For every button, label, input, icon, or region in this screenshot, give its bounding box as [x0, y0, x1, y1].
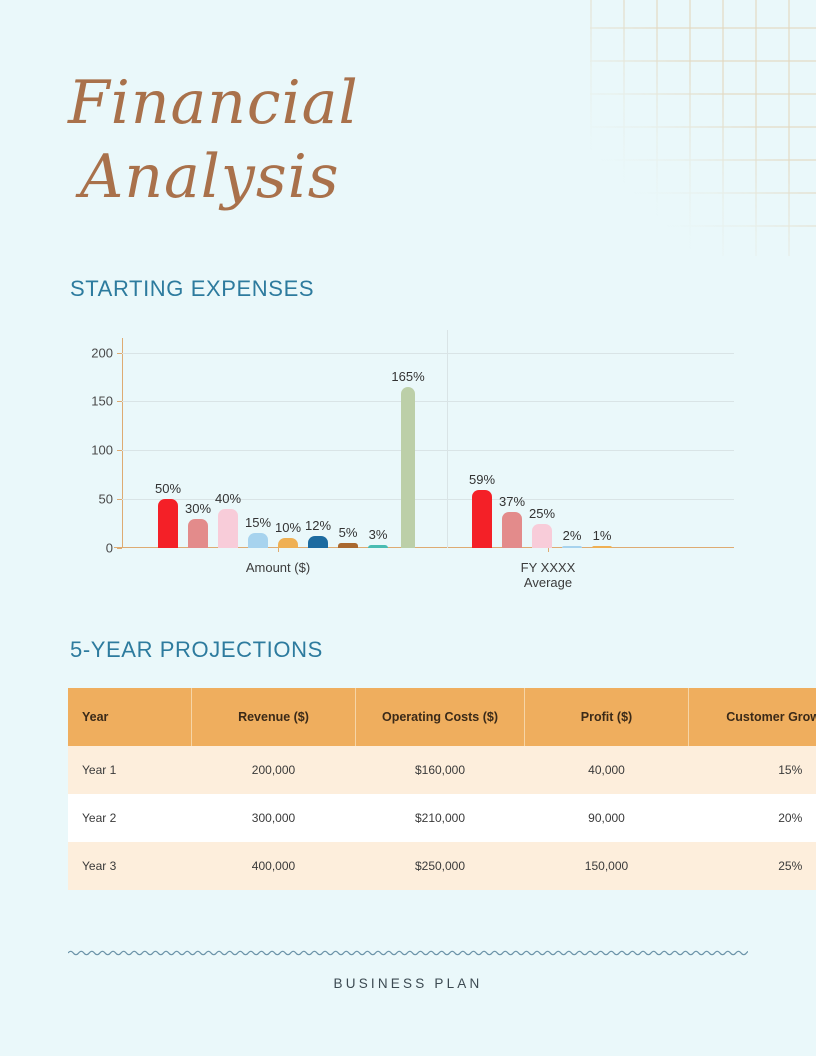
table-cell: 20%: [689, 794, 816, 842]
chart-x-tick-mark: [278, 548, 279, 552]
table-cell: $160,000: [356, 746, 525, 794]
table-cell: 90,000: [525, 794, 689, 842]
page-title-line-2: Analysis: [68, 140, 588, 214]
decorative-grid-pattern: [590, 0, 816, 256]
table-cell: 25%: [689, 842, 816, 890]
chart-bar-value-label: 37%: [499, 494, 525, 509]
chart-bar: [401, 387, 415, 548]
chart-bar: [502, 512, 522, 548]
chart-bar-value-label: 59%: [469, 472, 495, 487]
table-column-header: Year: [68, 688, 192, 746]
chart-bar: [592, 546, 612, 549]
section-heading-5-year-projections: 5-YEAR PROJECTIONS: [70, 637, 323, 663]
chart-bar-value-label: 1%: [593, 528, 612, 543]
table-cell: Year 3: [68, 842, 192, 890]
table-row: Year 2300,000$210,00090,00020%: [68, 794, 816, 842]
chart-y-tick-label: 100: [91, 443, 113, 458]
chart-bar: [532, 524, 552, 548]
chart-bar: [562, 546, 582, 549]
table-cell: $210,000: [356, 794, 525, 842]
chart-y-tick-label: 150: [91, 394, 113, 409]
footer-label: BUSINESS PLAN: [0, 976, 816, 991]
chart-group-divider: [447, 330, 448, 548]
chart-bar: [248, 533, 268, 548]
table-cell: 200,000: [192, 746, 356, 794]
chart-bar-value-label: 3%: [369, 527, 388, 542]
chart-bar: [278, 538, 298, 548]
table-cell: 400,000: [192, 842, 356, 890]
chart-gridline: [122, 401, 734, 402]
table-cell: Year 2: [68, 794, 192, 842]
section-heading-starting-expenses: STARTING EXPENSES: [70, 276, 314, 302]
chart-bar: [308, 536, 328, 548]
chart-y-tick-label: 50: [99, 492, 113, 507]
chart-plot-area: 05010015020050%30%40%15%10%12%5%3%165%59…: [122, 338, 734, 548]
table-body: Year 1200,000$160,00040,00015%Year 2300,…: [68, 746, 816, 890]
starting-expenses-bar-chart: 05010015020050%30%40%15%10%12%5%3%165%59…: [70, 330, 746, 590]
chart-bar-value-label: 30%: [185, 501, 211, 516]
chart-bar: [158, 499, 178, 548]
chart-bar-value-label: 2%: [563, 528, 582, 543]
chart-bar-value-label: 40%: [215, 491, 241, 506]
table-column-header: Profit ($): [525, 688, 689, 746]
chart-bar: [338, 543, 358, 548]
chart-bar-value-label: 15%: [245, 515, 271, 530]
chart-gridline: [122, 499, 734, 500]
chart-bar: [472, 490, 492, 548]
table-cell: 40,000: [525, 746, 689, 794]
table-header-row: YearRevenue ($)Operating Costs ($)Profit…: [68, 688, 816, 746]
chart-y-tick-mark: [117, 499, 122, 500]
table-column-header: Revenue ($): [192, 688, 356, 746]
table-cell: Year 1: [68, 746, 192, 794]
chart-y-tick-label: 0: [106, 541, 113, 556]
page-title-line-1: Financial: [68, 68, 359, 138]
footer-wave-divider: [68, 944, 748, 962]
table-header: YearRevenue ($)Operating Costs ($)Profit…: [68, 688, 816, 746]
table-cell: 150,000: [525, 842, 689, 890]
chart-gridline: [122, 450, 734, 451]
chart-y-tick-mark: [117, 401, 122, 402]
table-column-header: Operating Costs ($): [356, 688, 525, 746]
table-row: Year 3400,000$250,000150,00025%: [68, 842, 816, 890]
chart-x-group-label: Amount ($): [246, 560, 310, 575]
chart-bar-value-label: 50%: [155, 481, 181, 496]
chart-bar-value-label: 12%: [305, 518, 331, 533]
chart-bar-value-label: 5%: [339, 525, 358, 540]
chart-bar-value-label: 10%: [275, 520, 301, 535]
chart-x-group-label: FY XXXX Average: [521, 560, 576, 590]
chart-bar: [218, 509, 238, 548]
chart-y-tick-mark: [117, 450, 122, 451]
table-cell: $250,000: [356, 842, 525, 890]
chart-bar: [188, 519, 208, 548]
chart-x-tick-mark: [548, 548, 549, 552]
page-title: Financial Analysis: [68, 66, 588, 214]
table-cell: 300,000: [192, 794, 356, 842]
chart-y-tick-label: 200: [91, 345, 113, 360]
table-cell: 15%: [689, 746, 816, 794]
table-column-header: Customer Growth (%): [689, 688, 816, 746]
chart-bar-value-label: 25%: [529, 506, 555, 521]
chart-y-tick-mark: [117, 548, 122, 549]
chart-y-axis: [122, 338, 123, 548]
projections-table: YearRevenue ($)Operating Costs ($)Profit…: [68, 688, 816, 890]
chart-bar: [368, 545, 388, 548]
chart-y-tick-mark: [117, 353, 122, 354]
chart-gridline: [122, 353, 734, 354]
chart-bar-value-label: 165%: [391, 369, 424, 384]
table-row: Year 1200,000$160,00040,00015%: [68, 746, 816, 794]
